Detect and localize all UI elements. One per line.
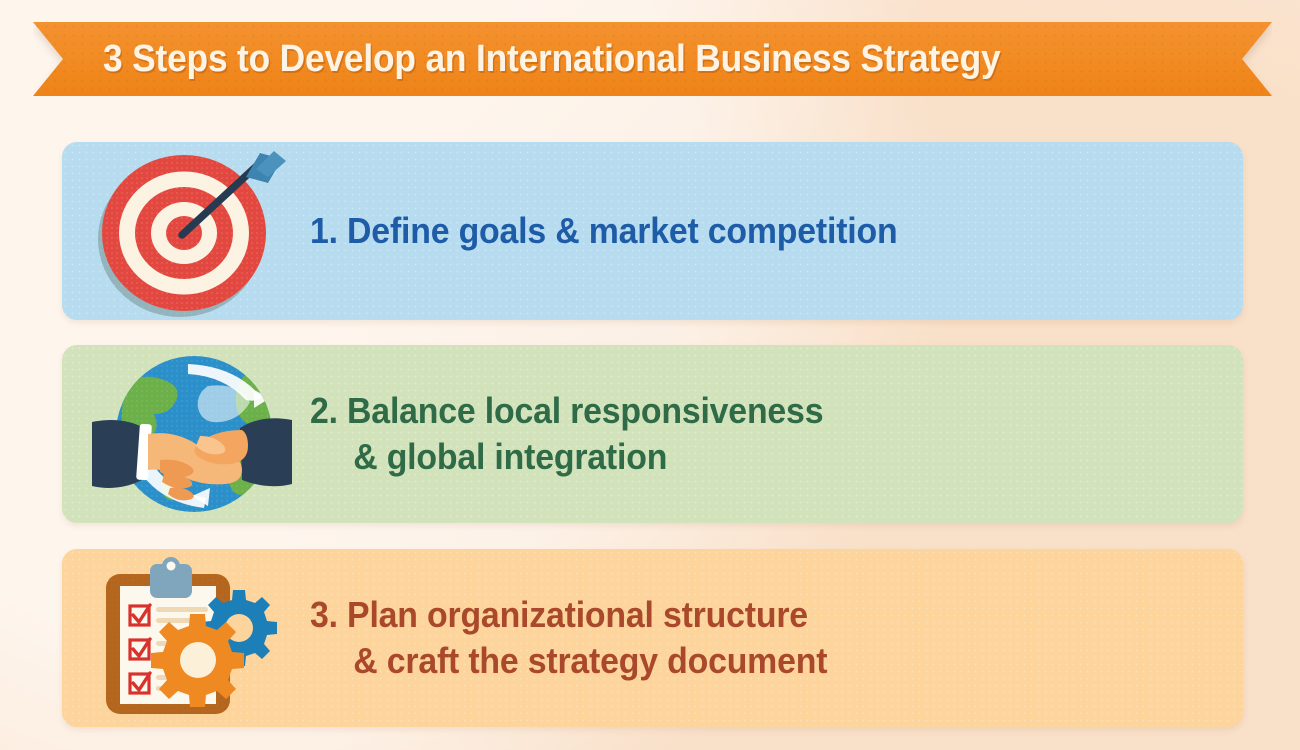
step-card-2-text: 2. Balance local responsiveness & global…: [310, 388, 823, 479]
step-3-line-2: & craft the strategy document: [310, 638, 827, 684]
step-card-2[interactable]: 2. Balance local responsiveness & global…: [62, 345, 1243, 523]
step-2-line-2: & global integration: [310, 434, 823, 480]
step-card-1[interactable]: 1. Define goals & market competition: [62, 142, 1243, 320]
target-arrow-icon: [94, 146, 294, 316]
clipboard-gears-icon: [94, 553, 294, 723]
step-1-line-1: 1. Define goals & market competition: [310, 210, 897, 251]
step-card-1-text: 1. Define goals & market competition: [310, 208, 897, 254]
step-card-3[interactable]: 3. Plan organizational structure & craft…: [62, 549, 1243, 727]
header-banner: 3 Steps to Develop an International Busi…: [33, 22, 1272, 96]
globe-handshake-icon: [94, 349, 294, 519]
step-card-3-text: 3. Plan organizational structure & craft…: [310, 592, 827, 683]
infographic-stage: 3 Steps to Develop an International Busi…: [0, 0, 1300, 750]
page-title: 3 Steps to Develop an International Busi…: [103, 38, 1000, 81]
step-2-line-1: 2. Balance local responsiveness: [310, 390, 823, 431]
step-3-line-1: 3. Plan organizational structure: [310, 594, 808, 635]
